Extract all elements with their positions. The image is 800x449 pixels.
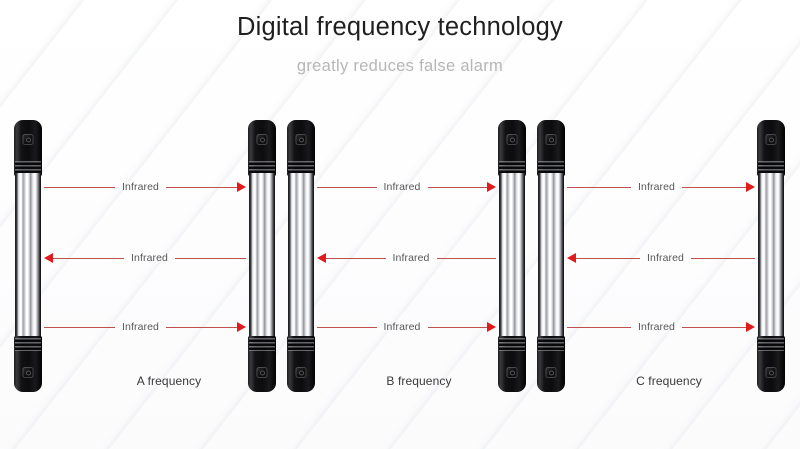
screw-icon — [546, 367, 557, 378]
beam-line — [317, 327, 377, 328]
beam-c-3: Infrared — [567, 320, 755, 334]
beam-line — [44, 187, 115, 188]
diagram-canvas: Digital frequency technology greatly red… — [0, 0, 800, 449]
page-title: Digital frequency technology — [0, 13, 800, 42]
detector-lens-body — [288, 173, 314, 339]
screw-icon — [766, 367, 777, 378]
detector-bottom-cap — [14, 336, 42, 392]
cap-ridges — [15, 338, 41, 351]
beam-label: Infrared — [115, 322, 166, 333]
beam-line — [175, 258, 246, 259]
beam-line — [682, 187, 746, 188]
screw-icon — [507, 367, 518, 378]
beam-line — [317, 187, 377, 188]
beam-b-2: Infrared — [317, 251, 496, 265]
beam-line — [576, 258, 640, 259]
beam-line — [437, 258, 497, 259]
beam-c-2: Infrared — [567, 251, 755, 265]
detector-top-cap — [757, 120, 785, 176]
beam-line — [691, 258, 755, 259]
beam-b-3: Infrared — [317, 320, 496, 334]
arrow-left-icon — [317, 253, 326, 263]
beam-label: Infrared — [377, 322, 428, 333]
beam-line — [53, 258, 124, 259]
beam-line — [567, 327, 631, 328]
arrow-right-icon — [487, 322, 496, 332]
beam-line — [682, 327, 746, 328]
detector-top-cap — [498, 120, 526, 176]
beam-line — [44, 327, 115, 328]
section-caption-b: B frequency — [334, 374, 504, 388]
infrared-beam-detector-2 — [248, 120, 276, 392]
infrared-beam-detector-4 — [498, 120, 526, 392]
beam-c-1: Infrared — [567, 180, 755, 194]
beam-line — [567, 187, 631, 188]
beam-a-2: Infrared — [44, 251, 246, 265]
beam-a-3: Infrared — [44, 320, 246, 334]
beam-label: Infrared — [631, 182, 682, 193]
detector-top-cap — [14, 120, 42, 176]
infrared-beam-detector-3 — [287, 120, 315, 392]
detector-top-cap — [287, 120, 315, 176]
arrow-right-icon — [746, 182, 755, 192]
cap-ridges — [758, 338, 784, 351]
arrow-left-icon — [44, 253, 53, 263]
screw-icon — [296, 367, 307, 378]
cap-ridges — [249, 338, 275, 351]
detector-bottom-cap — [537, 336, 565, 392]
cap-ridges — [499, 338, 525, 351]
cap-ridges — [538, 338, 564, 351]
beam-line — [428, 327, 488, 328]
beam-line — [166, 187, 237, 188]
infrared-beam-detector-1 — [14, 120, 42, 392]
cap-ridges — [288, 338, 314, 351]
section-caption-a: A frequency — [84, 374, 254, 388]
detector-lens-body — [758, 173, 784, 339]
screw-icon — [23, 134, 34, 145]
beam-label: Infrared — [640, 253, 691, 264]
beam-label: Infrared — [631, 322, 682, 333]
beam-label: Infrared — [124, 253, 175, 264]
arrow-right-icon — [237, 182, 246, 192]
screw-icon — [766, 134, 777, 145]
detector-top-cap — [537, 120, 565, 176]
screw-icon — [257, 367, 268, 378]
beam-line — [166, 327, 237, 328]
screw-icon — [546, 134, 557, 145]
arrow-right-icon — [237, 322, 246, 332]
beam-label: Infrared — [115, 182, 166, 193]
beam-label: Infrared — [386, 253, 437, 264]
detector-lens-body — [15, 173, 41, 339]
beam-line — [428, 187, 488, 188]
arrow-right-icon — [746, 322, 755, 332]
detector-bottom-cap — [287, 336, 315, 392]
detector-lens-body — [538, 173, 564, 339]
screw-icon — [507, 134, 518, 145]
screw-icon — [257, 134, 268, 145]
arrow-left-icon — [567, 253, 576, 263]
beam-a-1: Infrared — [44, 180, 246, 194]
arrow-right-icon — [487, 182, 496, 192]
screw-icon — [296, 134, 307, 145]
page-subtitle: greatly reduces false alarm — [0, 57, 800, 76]
detector-lens-body — [499, 173, 525, 339]
detector-top-cap — [248, 120, 276, 176]
beam-b-1: Infrared — [317, 180, 496, 194]
screw-icon — [23, 367, 34, 378]
detector-bottom-cap — [757, 336, 785, 392]
beam-line — [326, 258, 386, 259]
section-caption-c: C frequency — [584, 374, 754, 388]
beam-label: Infrared — [377, 182, 428, 193]
infrared-beam-detector-6 — [757, 120, 785, 392]
infrared-beam-detector-5 — [537, 120, 565, 392]
detector-lens-body — [249, 173, 275, 339]
